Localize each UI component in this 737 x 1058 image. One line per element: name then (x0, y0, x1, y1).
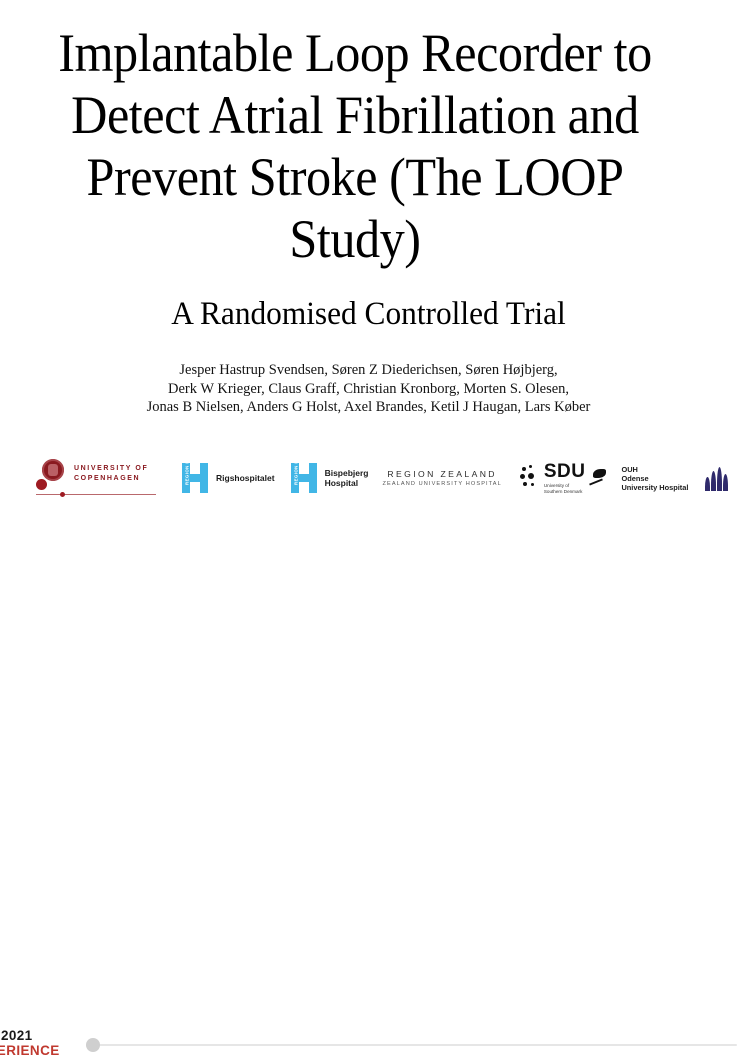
logo-odense-university-hospital: OUH Odense University Hospital (607, 465, 688, 492)
progress-track[interactable] (96, 1044, 737, 1046)
logo-region-zealand: REGION ZEALAND ZEALAND UNIVERSITY HOSPIT… (383, 469, 502, 487)
logo-label: Bispebjerg Hospital (325, 468, 369, 488)
badge-line-primary: SS 2021 (0, 1028, 82, 1043)
player-bar: SS 2021 XPERIENCE (0, 512, 737, 570)
logo-label: UNIVERSITY OF COPENHAGEN (74, 464, 148, 483)
slide-subtitle: A Randomised Controlled Trial (18, 294, 718, 334)
logo-label: Rigshospitalet (216, 473, 275, 483)
slide-title: Implantable Loop Recorder to Detect Atri… (16, 22, 695, 270)
progress-thumb[interactable] (86, 1038, 100, 1052)
logo-bispebjerg-hospital: REGION H Bispebjerg Hospital (289, 463, 369, 493)
region-h-icon: REGION H (180, 463, 210, 493)
logo-sublabel: ZEALAND UNIVERSITY HOSPITAL (383, 481, 502, 487)
logo-aalborg-university: AALBORG UNIVERSITY (704, 465, 737, 491)
region-h-label: REGION H (293, 458, 298, 488)
title-line: Detect Atrial Fibrillation and (16, 84, 695, 146)
logo-rigshospitalet: REGION H Rigshospitalet (180, 463, 275, 493)
logo-sublabel: University of Southern Denmark (544, 483, 586, 495)
title-line: Implantable Loop Recorder to (16, 22, 695, 84)
institution-logo-strip: UNIVERSITY OF COPENHAGEN REGION H Rigsho… (0, 452, 737, 504)
region-h-icon: REGION H (289, 463, 319, 493)
logo-label: SDU (544, 462, 586, 481)
sdu-leaf-icon (587, 467, 607, 489)
badge-line-secondary: XPERIENCE (0, 1043, 82, 1058)
esc-congress-badge: SS 2021 XPERIENCE (0, 1028, 82, 1058)
logo-university-of-copenhagen: UNIVERSITY OF COPENHAGEN (34, 455, 162, 501)
logo-label: OUH Odense University Hospital (621, 465, 688, 492)
copenhagen-seal-icon (42, 459, 64, 481)
logo-sdu: SDU University of Southern Denmark (520, 462, 608, 495)
presentation-slide: Implantable Loop Recorder to Detect Atri… (0, 0, 737, 512)
title-line: Study) (16, 208, 695, 270)
copenhagen-rule-icon (36, 494, 156, 495)
logo-label: REGION ZEALAND (383, 469, 502, 479)
aalborg-wave-icon (704, 465, 730, 491)
sdu-dots-icon (520, 464, 540, 492)
copenhagen-dot-icon (36, 479, 47, 490)
author-line: Derk W Krieger, Claus Graff, Christian K… (0, 380, 737, 399)
title-line: Prevent Stroke (The LOOP (16, 146, 695, 208)
author-line: Jesper Hastrup Svendsen, Søren Z Diederi… (0, 361, 737, 380)
author-list: Jesper Hastrup Svendsen, Søren Z Diederi… (0, 361, 737, 417)
author-line: Jonas B Nielsen, Anders G Holst, Axel Br… (0, 398, 737, 417)
region-h-label: REGION H (185, 458, 190, 488)
